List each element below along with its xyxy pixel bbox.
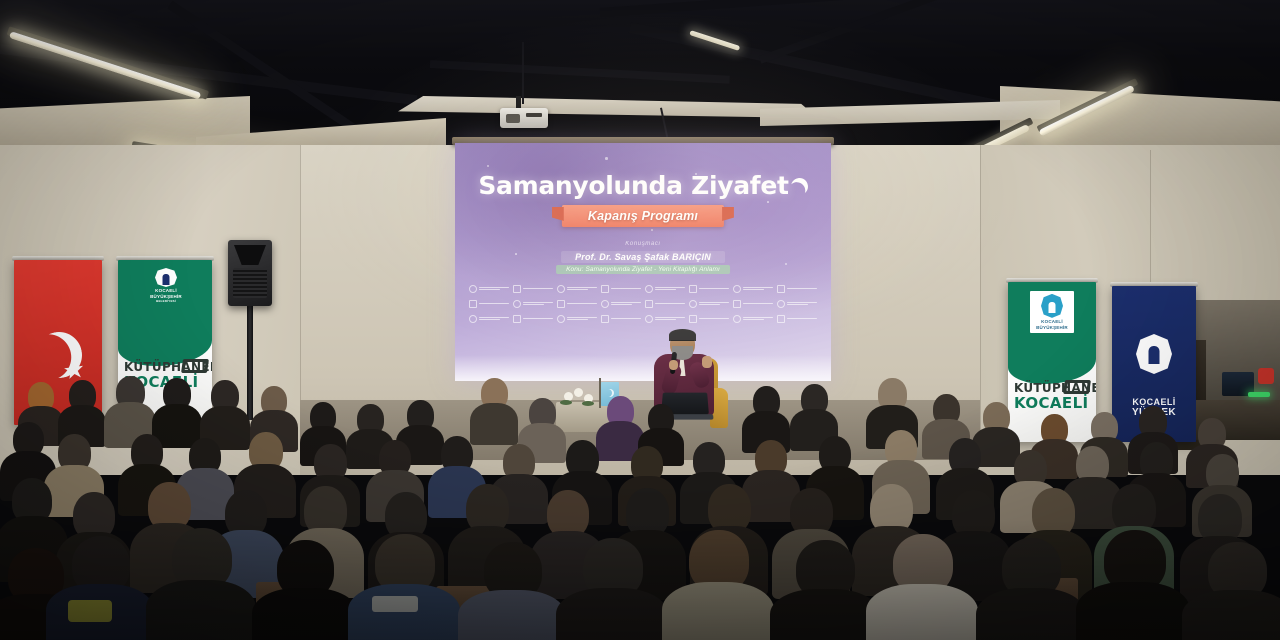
sponsor-logo: [513, 285, 553, 292]
sponsor-logo: [733, 300, 773, 307]
sponsor-mark-icon: [733, 285, 741, 293]
sponsor-mark-icon: [513, 315, 521, 323]
audience-member: [770, 540, 880, 640]
audience-member: [1076, 530, 1190, 640]
sponsor-mark-icon: [601, 315, 609, 323]
sponsor-mark-icon: [645, 315, 653, 323]
audience-member: [742, 386, 790, 446]
jacket-graphic: [372, 596, 418, 612]
kocaeli-logo: KOCAELİ BÜYÜKŞEHİR BELEDİYESİ: [148, 268, 184, 304]
sponsor-logo: [557, 300, 597, 307]
audience-member: [556, 538, 668, 640]
pa-speaker: [228, 240, 272, 306]
sponsor-logo: [557, 285, 597, 292]
sponsor-mark-icon: [601, 285, 609, 293]
audience-member: [866, 534, 978, 640]
sponsor-mark-icon: [513, 285, 521, 293]
slide-title: Samanyolunda Ziyafet: [455, 171, 831, 200]
audience-member: [46, 536, 154, 640]
audience-member: [104, 376, 156, 442]
ceiling-beam: [430, 60, 730, 84]
kocaeli-logo-line2: BÜYÜKŞEHİR: [1036, 325, 1068, 331]
audience-member: [348, 534, 460, 640]
sponsor-logo: [777, 285, 817, 292]
sponsor-logo: [469, 300, 509, 307]
ceiling-beam: [759, 0, 1100, 64]
sponsor-logo: [689, 285, 729, 292]
sponsor-logo: [469, 315, 509, 322]
ceiling-panel: [398, 96, 818, 118]
sponsor-mark-icon: [733, 300, 741, 308]
sponsor-mark-icon: [469, 315, 477, 323]
sponsor-mark-icon: [557, 285, 565, 293]
sponsor-logo: [513, 315, 553, 322]
sponsor-mark-icon: [557, 300, 565, 308]
kocaeli-emblem-icon: [1041, 294, 1063, 318]
audience: [0, 360, 1280, 640]
sponsor-mark-icon: [601, 300, 609, 308]
sponsor-mark-icon: [777, 315, 785, 323]
sponsor-mark-icon: [777, 285, 785, 293]
audience-member: [252, 540, 358, 640]
sponsor-logo: [557, 315, 597, 322]
sponsor-logo: [469, 285, 509, 292]
sponsor-mark-icon: [689, 300, 697, 308]
sponsor-logo: [513, 300, 553, 307]
ceiling-beam: [600, 0, 1280, 17]
speaker-grill: [233, 268, 267, 298]
sponsor-mark-icon: [689, 285, 697, 293]
speaker-name: Prof. Dr. Savaş Şafak BARIÇIN: [561, 251, 725, 263]
audience-member: [458, 542, 566, 640]
sponsor-logo: [733, 315, 773, 322]
audience-member: [58, 380, 106, 442]
sponsor-mark-icon: [645, 285, 653, 293]
sponsor-mark-icon: [733, 315, 741, 323]
sponsor-mark-icon: [513, 300, 521, 308]
slide-title-text: Samanyolunda Ziyafet: [478, 171, 788, 200]
audience-member: [662, 530, 774, 640]
audience-member: [1182, 542, 1280, 640]
sponsor-logo: [777, 300, 817, 307]
ceiling-projector: [500, 108, 548, 128]
audience-member: [470, 378, 518, 440]
sponsor-mark-icon: [689, 315, 697, 323]
slide-subtitle-text: Kapanış Programı: [588, 209, 698, 223]
sponsor-mark-icon: [777, 300, 785, 308]
sponsor-logo: [601, 300, 641, 307]
sponsor-logo: [601, 315, 641, 322]
crescent-moon-icon: [791, 178, 808, 195]
sponsor-logo: [777, 315, 817, 322]
kocaeli-emblem-icon: [155, 268, 177, 287]
speaker-label: Konuşmacı: [455, 241, 831, 247]
sponsor-logo: [645, 300, 685, 307]
sponsor-logo: [645, 315, 685, 322]
kocaeli-logo-line3: BELEDİYESİ: [156, 300, 176, 304]
conference-hall-photo: Samanyolunda Ziyafet Kapanış Programı Ko…: [0, 0, 1280, 640]
sponsor-logo: [601, 285, 641, 292]
projector-cable: [522, 42, 524, 104]
speaker-horn-icon: [234, 245, 266, 265]
slide-subtitle-ribbon: Kapanış Programı: [562, 205, 724, 227]
sponsor-logo: [733, 285, 773, 292]
kocaeli-logo-card: KOCAELİ BÜYÜKŞEHİR: [1030, 291, 1074, 333]
ceiling: [0, 0, 1280, 150]
sponsor-mark-icon: [645, 300, 653, 308]
audience-member: [152, 378, 202, 442]
sponsor-mark-icon: [557, 315, 565, 323]
audience-member: [146, 528, 256, 640]
speaker-topic: Konu: Samanyolunda Ziyafet - Yeni Kitapl…: [556, 265, 730, 274]
jacket-graphic: [68, 600, 112, 622]
sponsor-mark-icon: [469, 285, 477, 293]
sponsor-logo: [689, 315, 729, 322]
sponsor-logo: [645, 285, 685, 292]
audience-member: [976, 538, 1086, 640]
sponsor-logo: [689, 300, 729, 307]
sponsor-mark-icon: [469, 300, 477, 308]
sponsor-logo-grid: [469, 285, 817, 322]
